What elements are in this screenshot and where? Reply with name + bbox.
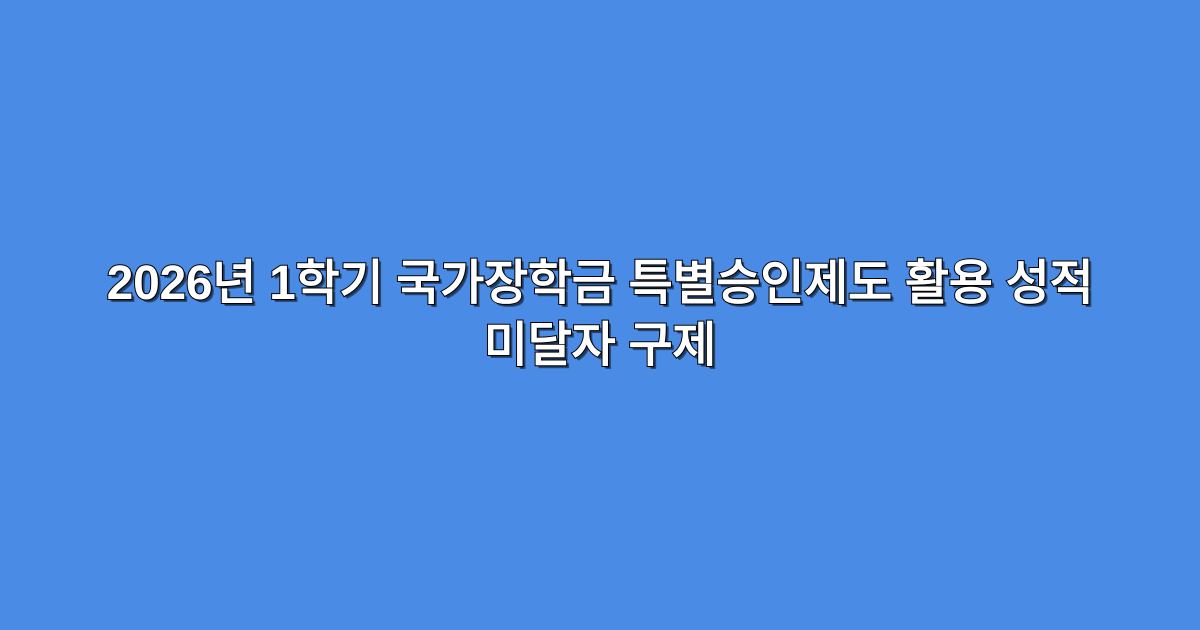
page-title-line-2: 미달자 구제 <box>70 315 1130 377</box>
page-title: 2026년 1학기 국가장학금 특별승인제도 활용 성적 미달자 구제 <box>50 253 1150 377</box>
thumbnail-card: 2026년 1학기 국가장학금 특별승인제도 활용 성적 미달자 구제 <box>0 0 1200 630</box>
page-title-line-1: 2026년 1학기 국가장학금 특별승인제도 활용 성적 <box>70 253 1130 315</box>
